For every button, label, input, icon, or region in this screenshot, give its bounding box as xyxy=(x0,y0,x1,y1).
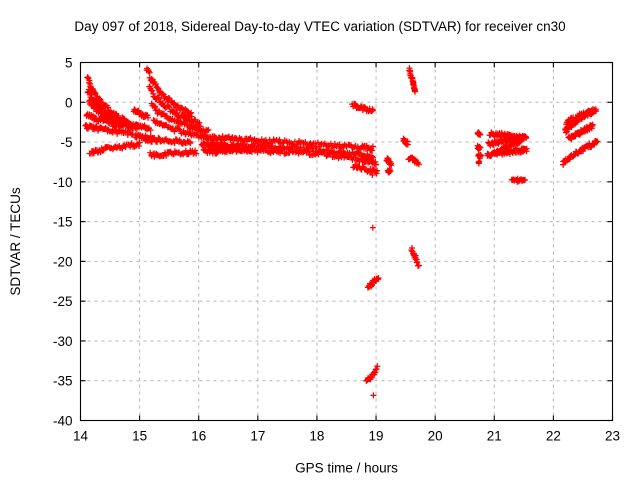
x-tick-label: 18 xyxy=(309,429,324,444)
y-tick-labels: 50-5-10-15-20-25-30-35-40 xyxy=(53,56,73,429)
y-tick-label: -30 xyxy=(53,334,73,349)
y-tick-label: -15 xyxy=(53,215,73,230)
x-tick-labels: 14151617181920212223 xyxy=(73,429,620,444)
y-tick-label: -25 xyxy=(53,294,73,309)
x-tick-label: 21 xyxy=(487,429,502,444)
y-tick-label: -35 xyxy=(53,374,73,389)
x-tick-label: 22 xyxy=(546,429,561,444)
x-tick-label: 17 xyxy=(250,429,265,444)
x-tick-label: 23 xyxy=(605,429,620,444)
y-tick-label: 0 xyxy=(65,95,73,110)
chart-canvas: 14151617181920212223 50-5-10-15-20-25-30… xyxy=(0,0,640,480)
gridlines xyxy=(81,63,613,421)
x-tick-label: 14 xyxy=(73,429,89,444)
x-tick-label: 16 xyxy=(191,429,206,444)
x-axis-label: GPS time / hours xyxy=(295,461,398,476)
plot-frame xyxy=(81,63,613,421)
tick-marks xyxy=(81,63,613,421)
y-tick-label: -20 xyxy=(53,254,73,269)
chart-svg: 14151617181920212223 50-5-10-15-20-25-30… xyxy=(0,0,640,480)
y-tick-label: -40 xyxy=(53,414,73,429)
data-point-marker xyxy=(476,159,482,165)
y-tick-label: -10 xyxy=(53,175,73,190)
y-tick-label: 5 xyxy=(65,56,73,71)
data-points xyxy=(82,65,600,398)
y-axis-label: SDTVAR / TECUs xyxy=(8,187,23,296)
x-tick-label: 20 xyxy=(428,429,443,444)
y-tick-label: -5 xyxy=(60,135,72,150)
x-tick-label: 15 xyxy=(132,429,147,444)
x-tick-label: 19 xyxy=(369,429,384,444)
data-point-marker xyxy=(370,225,376,231)
chart-container: Day 097 of 2018, Sidereal Day-to-day VTE… xyxy=(0,0,640,480)
